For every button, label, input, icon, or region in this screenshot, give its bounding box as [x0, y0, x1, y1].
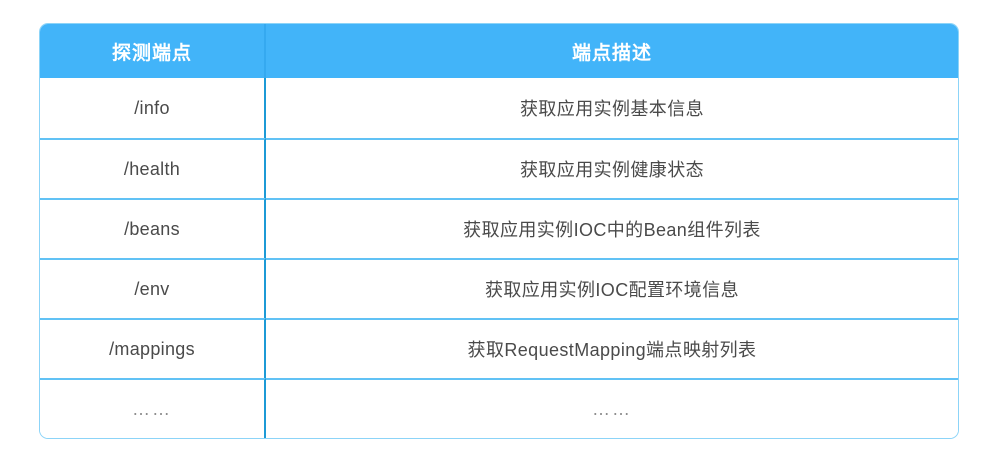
- endpoint-table: 探测端点 端点描述 /info 获取应用实例基本信息 /health 获取应用实…: [40, 24, 958, 438]
- table-header-row: 探测端点 端点描述: [40, 24, 958, 78]
- table-row: /mappings 获取RequestMapping端点映射列表: [40, 318, 958, 378]
- cell-description: 获取应用实例健康状态: [266, 138, 958, 198]
- cell-endpoint-ellipsis: ……: [40, 378, 266, 438]
- cell-description: 获取RequestMapping端点映射列表: [266, 318, 958, 378]
- cell-endpoint: /health: [40, 138, 266, 198]
- cell-description: 获取应用实例IOC配置环境信息: [266, 258, 958, 318]
- table-row: /health 获取应用实例健康状态: [40, 138, 958, 198]
- cell-description: 获取应用实例IOC中的Bean组件列表: [266, 198, 958, 258]
- table-row: …… ……: [40, 378, 958, 438]
- cell-description: 获取应用实例基本信息: [266, 78, 958, 138]
- cell-endpoint: /env: [40, 258, 266, 318]
- table-row: /env 获取应用实例IOC配置环境信息: [40, 258, 958, 318]
- table-row: /beans 获取应用实例IOC中的Bean组件列表: [40, 198, 958, 258]
- cell-endpoint: /beans: [40, 198, 266, 258]
- table-body: /info 获取应用实例基本信息 /health 获取应用实例健康状态 /bea…: [40, 78, 958, 438]
- column-header-description: 端点描述: [266, 24, 958, 78]
- page-canvas: 探测端点 端点描述 /info 获取应用实例基本信息 /health 获取应用实…: [0, 0, 1000, 473]
- cell-endpoint: /info: [40, 78, 266, 138]
- cell-description-ellipsis: ……: [266, 378, 958, 438]
- column-header-endpoint: 探测端点: [40, 24, 266, 78]
- cell-endpoint: /mappings: [40, 318, 266, 378]
- table-header: 探测端点 端点描述: [40, 24, 958, 78]
- table-row: /info 获取应用实例基本信息: [40, 78, 958, 138]
